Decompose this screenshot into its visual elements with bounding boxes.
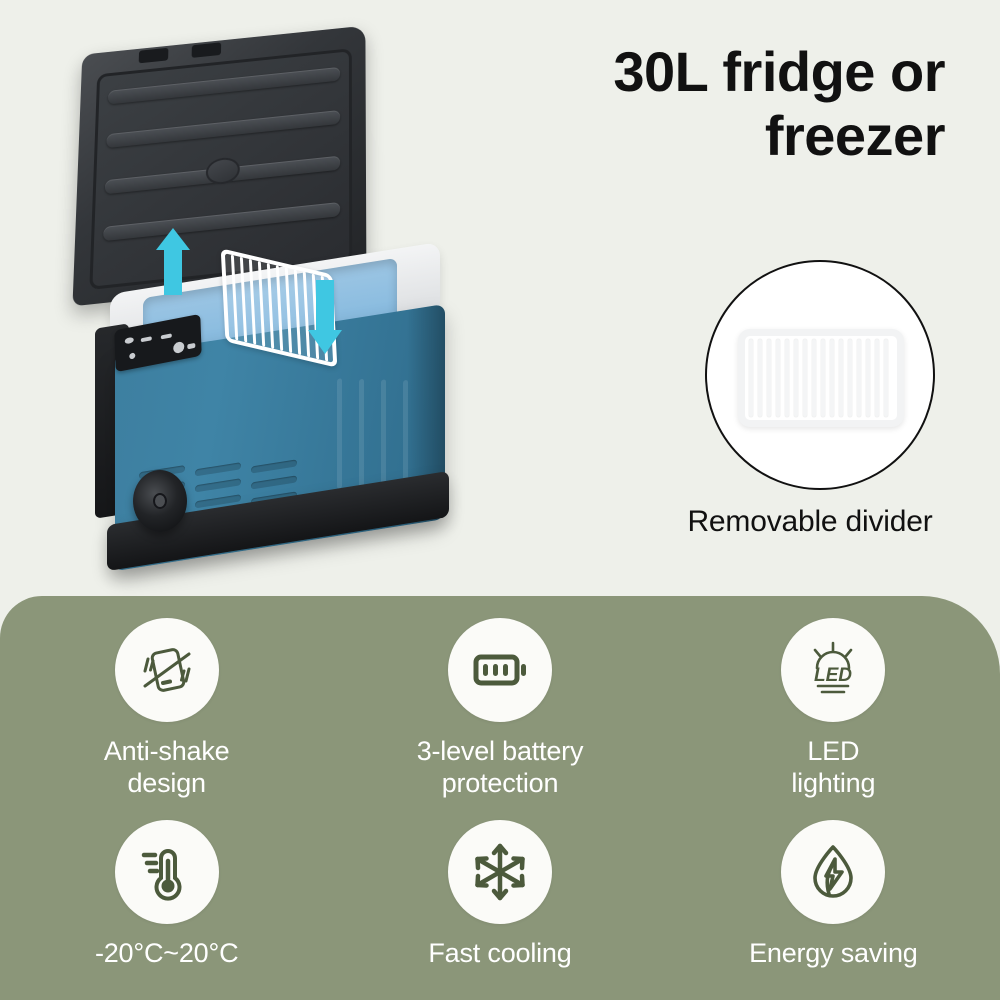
- rack-bar: [830, 339, 834, 417]
- rack-bar: [875, 339, 879, 417]
- feature-temperature-range: -20°C~20°C: [0, 814, 333, 970]
- thermometer-icon: [115, 820, 219, 924]
- rack-bar: [812, 339, 816, 417]
- feature-label-line-1: 3-level battery: [417, 736, 584, 768]
- features-grid: Anti-shake design 3-level battery: [0, 596, 1000, 1000]
- infographic-page: 30L fridge or freezer: [0, 0, 1000, 1000]
- fridge-wheel: [133, 470, 187, 532]
- battery-3-level-icon: [448, 618, 552, 722]
- product-image: [55, 30, 495, 570]
- panel-led-indicator: [129, 352, 135, 359]
- feature-label: Fast cooling: [428, 938, 571, 970]
- feature-label-line-1: LED: [791, 736, 875, 768]
- rack-bar: [857, 339, 861, 417]
- feature-battery-protection: 3-level battery protection: [333, 596, 666, 800]
- body-crease: [337, 378, 342, 489]
- lid-hinge-left: [139, 48, 169, 64]
- removable-divider-callout: [705, 260, 935, 490]
- removable-divider-rack-icon: [738, 329, 904, 427]
- feature-label-line-1: Fast cooling: [428, 938, 571, 970]
- page-title: 30L fridge or freezer: [465, 40, 945, 168]
- feature-label-line-1: Energy saving: [749, 938, 918, 970]
- feature-label-line-2: design: [104, 768, 230, 800]
- feature-label: 3-level battery protection: [417, 736, 584, 800]
- features-panel: Anti-shake design 3-level battery: [0, 596, 1000, 1000]
- lid-rib: [108, 67, 340, 105]
- body-crease: [403, 380, 408, 491]
- feature-label: LED lighting: [791, 736, 875, 800]
- lid-hinge-right: [192, 42, 222, 58]
- vent-slot: [251, 459, 297, 473]
- rack-bar: [776, 339, 780, 417]
- panel-button-mode[interactable]: [187, 343, 195, 350]
- body-crease: [381, 379, 386, 490]
- feature-energy-saving: Energy saving: [667, 814, 1000, 970]
- led-light-icon: LED: [781, 618, 885, 722]
- lid-rib: [106, 110, 340, 148]
- feature-label: Energy saving: [749, 938, 918, 970]
- rack-bar: [839, 339, 843, 417]
- rack-bar: [758, 339, 762, 417]
- anti-shake-icon: [115, 618, 219, 722]
- rack-bar: [785, 339, 789, 417]
- rack-bar: [767, 339, 771, 417]
- rack-bar: [749, 339, 753, 417]
- removable-divider-label: Removable divider: [620, 505, 1000, 539]
- feature-fast-cooling: Fast cooling: [333, 814, 666, 970]
- rack-bar: [794, 339, 798, 417]
- vent-slot: [195, 462, 241, 476]
- led-icon-text: LED: [814, 665, 852, 686]
- leaf-energy-icon: [781, 820, 885, 924]
- rack-bar: [848, 339, 852, 417]
- feature-anti-shake: Anti-shake design: [0, 596, 333, 800]
- panel-button-set[interactable]: [173, 341, 184, 354]
- feature-label-line-1: Anti-shake: [104, 736, 230, 768]
- page-title-line-2: freezer: [465, 104, 945, 168]
- vent-slot: [251, 475, 297, 489]
- lid-rib: [103, 202, 340, 241]
- feature-label: -20°C~20°C: [95, 938, 238, 970]
- feature-label: Anti-shake design: [104, 736, 230, 800]
- feature-led-lighting: LED LED lighting: [667, 596, 1000, 800]
- feature-label-line-2: protection: [417, 768, 584, 800]
- panel-display: [141, 336, 152, 342]
- panel-display-2: [161, 333, 172, 339]
- rack-bar: [821, 339, 825, 417]
- feature-label-line-1: -20°C~20°C: [95, 938, 238, 970]
- rack-bar: [866, 339, 870, 417]
- lid-vent-knob: [206, 157, 240, 187]
- feature-label-line-2: lighting: [791, 768, 875, 800]
- vent-slot: [195, 478, 241, 492]
- snowflake-icon: [448, 820, 552, 924]
- rack-bar: [884, 339, 888, 417]
- body-crease: [359, 379, 364, 490]
- page-title-line-1: 30L fridge or: [465, 40, 945, 104]
- rack-bar: [803, 339, 807, 417]
- panel-button-power[interactable]: [125, 337, 134, 345]
